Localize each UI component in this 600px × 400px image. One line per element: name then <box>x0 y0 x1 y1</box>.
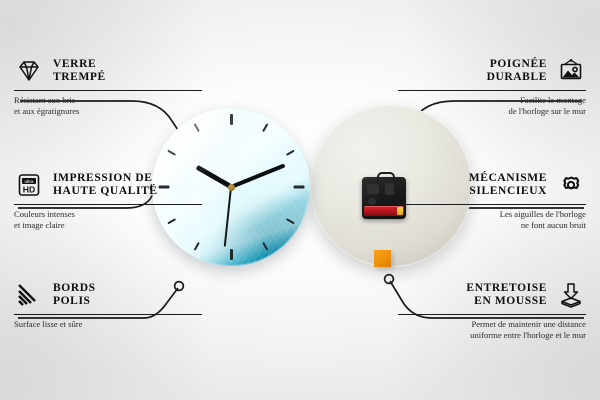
callout-bords-polis: BORDS POLIS Surface lisse et sûre <box>14 280 202 330</box>
polished-edges-icon <box>14 280 44 310</box>
callout-title: BORDS POLIS <box>53 282 96 308</box>
callout-poignee-durable: POIGNÉE DURABLE Facilite le montage de l… <box>398 56 586 116</box>
callout-impression-haute-qualite: ultra HD IMPRESSION DE HAUTE QUALITÉ Cou… <box>14 170 202 230</box>
gear-icon <box>556 170 586 200</box>
callout-description: Couleurs intenses et image claire <box>14 209 202 230</box>
ultra-hd-icon: ultra HD <box>14 170 44 200</box>
callout-header: MÉCANISME SILENCIEUX <box>398 170 586 200</box>
callout-description: Les aiguilles de l'horloge ne font aucun… <box>398 209 586 230</box>
callout-description: Facilite le montage de l'horloge sur le … <box>398 95 586 116</box>
picture-hanger-icon <box>556 56 586 86</box>
callout-description: Résistant aux bris et aux égratignures <box>14 95 202 116</box>
mechanism-hanger <box>377 172 395 183</box>
svg-text:ultra: ultra <box>25 179 34 184</box>
callout-header: ENTRETOISE EN MOUSSE <box>398 280 586 310</box>
callout-divider <box>14 204 202 205</box>
svg-text:HD: HD <box>23 184 35 194</box>
callout-header: ultra HD IMPRESSION DE HAUTE QUALITÉ <box>14 170 202 200</box>
callout-title: POIGNÉE DURABLE <box>487 58 547 84</box>
foam-spacer-pad <box>374 250 391 267</box>
callout-mecanisme-silencieux: MÉCANISME SILENCIEUX Les aiguilles de l'… <box>398 170 586 230</box>
connector-endpoint-entretoise <box>385 275 394 284</box>
callout-header: BORDS POLIS <box>14 280 202 310</box>
callout-header: POIGNÉE DURABLE <box>398 56 586 86</box>
diamond-icon <box>14 56 44 86</box>
mechanism-dial-a <box>367 184 379 194</box>
foam-spacer-icon <box>556 280 586 310</box>
callout-divider <box>398 90 586 91</box>
callout-divider <box>14 90 202 91</box>
callout-title: ENTRETOISE EN MOUSSE <box>466 282 547 308</box>
callout-title: MÉCANISME SILENCIEUX <box>469 172 547 198</box>
callout-divider <box>14 314 202 315</box>
callout-title: IMPRESSION DE HAUTE QUALITÉ <box>53 172 158 198</box>
callout-description: Surface lisse et sûre <box>14 319 202 330</box>
callout-verre-trempe: VERRE TREMPÉ Résistant aux bris et aux é… <box>14 56 202 116</box>
mechanism-dial-c <box>368 198 376 205</box>
callout-divider <box>398 314 586 315</box>
callout-title: VERRE TREMPÉ <box>53 58 106 84</box>
mechanism-dial-b <box>385 183 394 195</box>
infographic-canvas: VERRE TREMPÉ Résistant aux bris et aux é… <box>0 0 600 400</box>
callout-description: Permet de maintenir une distance uniform… <box>398 319 586 340</box>
callout-entretoise-en-mousse: ENTRETOISE EN MOUSSE Permet de maintenir… <box>398 280 586 340</box>
callout-header: VERRE TREMPÉ <box>14 56 202 86</box>
callout-divider <box>398 204 586 205</box>
